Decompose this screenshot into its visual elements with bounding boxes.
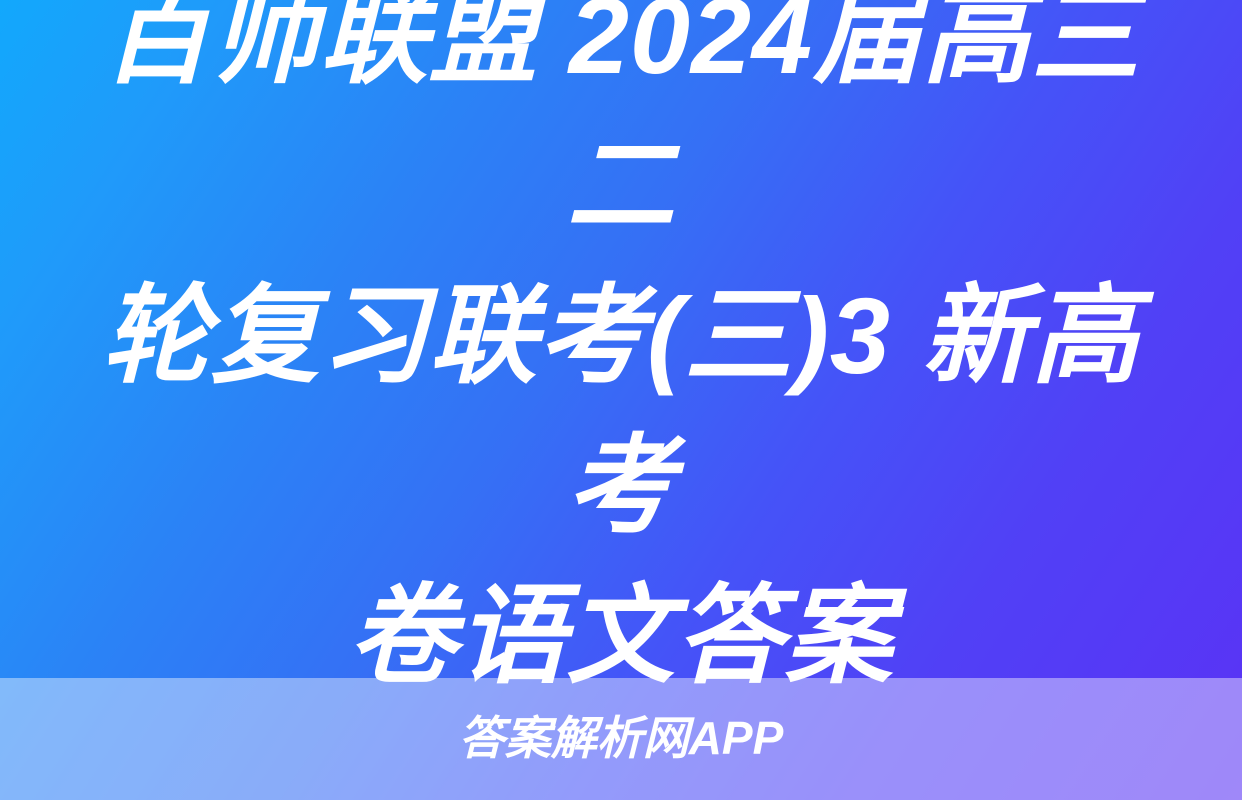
- watermark-band: 答案解析网APP: [0, 678, 1242, 800]
- app-brand-watermark: 答案解析网APP: [459, 713, 784, 765]
- poster-canvas: 百师联盟 2024届高三二 轮复习联考(三)3 新高考 卷语文答案 答案解析网A…: [0, 0, 1242, 800]
- page-title: 百师联盟 2024届高三二 轮复习联考(三)3 新高考 卷语文答案: [70, 0, 1172, 711]
- headline-block: 百师联盟 2024届高三二 轮复习联考(三)3 新高考 卷语文答案: [0, 0, 1242, 678]
